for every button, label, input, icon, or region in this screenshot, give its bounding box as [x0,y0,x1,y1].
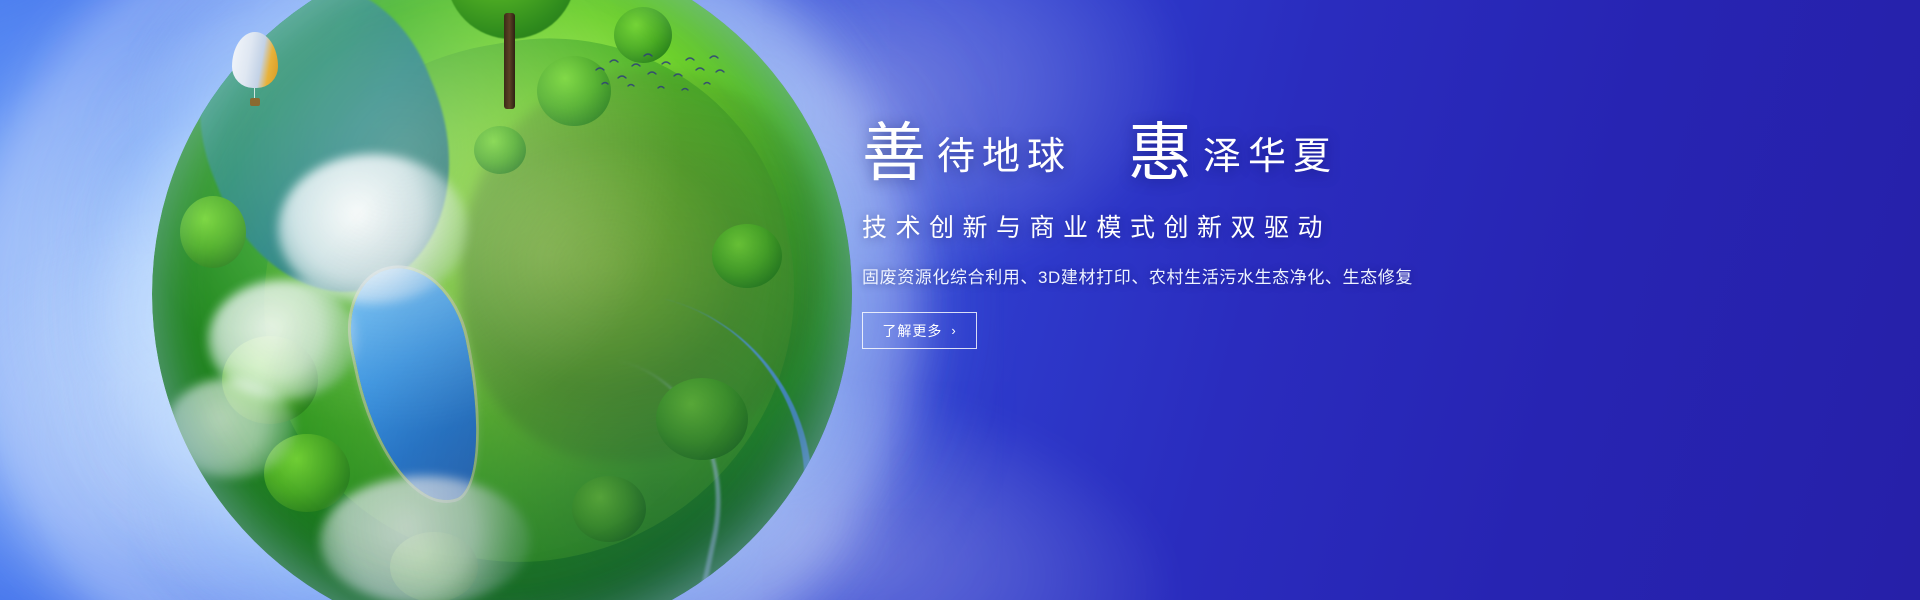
hero-banner: 善 待地球 惠 泽华夏 技术创新与商业模式创新双驱动 固废资源化综合利用、3D建… [0,0,1920,600]
description: 固废资源化综合利用、3D建材打印、农村生活污水生态净化、生态修复 [862,263,1562,288]
bird-flock-icon [592,52,732,98]
tree-trunk [504,13,515,109]
headline-word-1-primary: 善 [862,122,927,186]
headline-word-2-primary: 惠 [1128,122,1193,186]
headline-word-2-secondary: 泽华夏 [1203,133,1338,186]
learn-more-label: 了解更多 [882,321,942,341]
chevron-right-icon: › [951,324,956,337]
balloon-envelope [232,32,278,88]
balloon-basket [250,98,260,106]
learn-more-button[interactable]: 了解更多 › [862,312,977,349]
hero-content: 善 待地球 惠 泽华夏 技术创新与商业模式创新双驱动 固废资源化综合利用、3D建… [862,122,1562,349]
hot-air-balloon-icon [232,32,278,108]
large-tree-icon [446,0,576,109]
headline: 善 待地球 惠 泽华夏 [862,122,1562,186]
headline-word-1-secondary: 待地球 [937,133,1072,186]
subtitle: 技术创新与商业模式创新双驱动 [862,208,1562,244]
